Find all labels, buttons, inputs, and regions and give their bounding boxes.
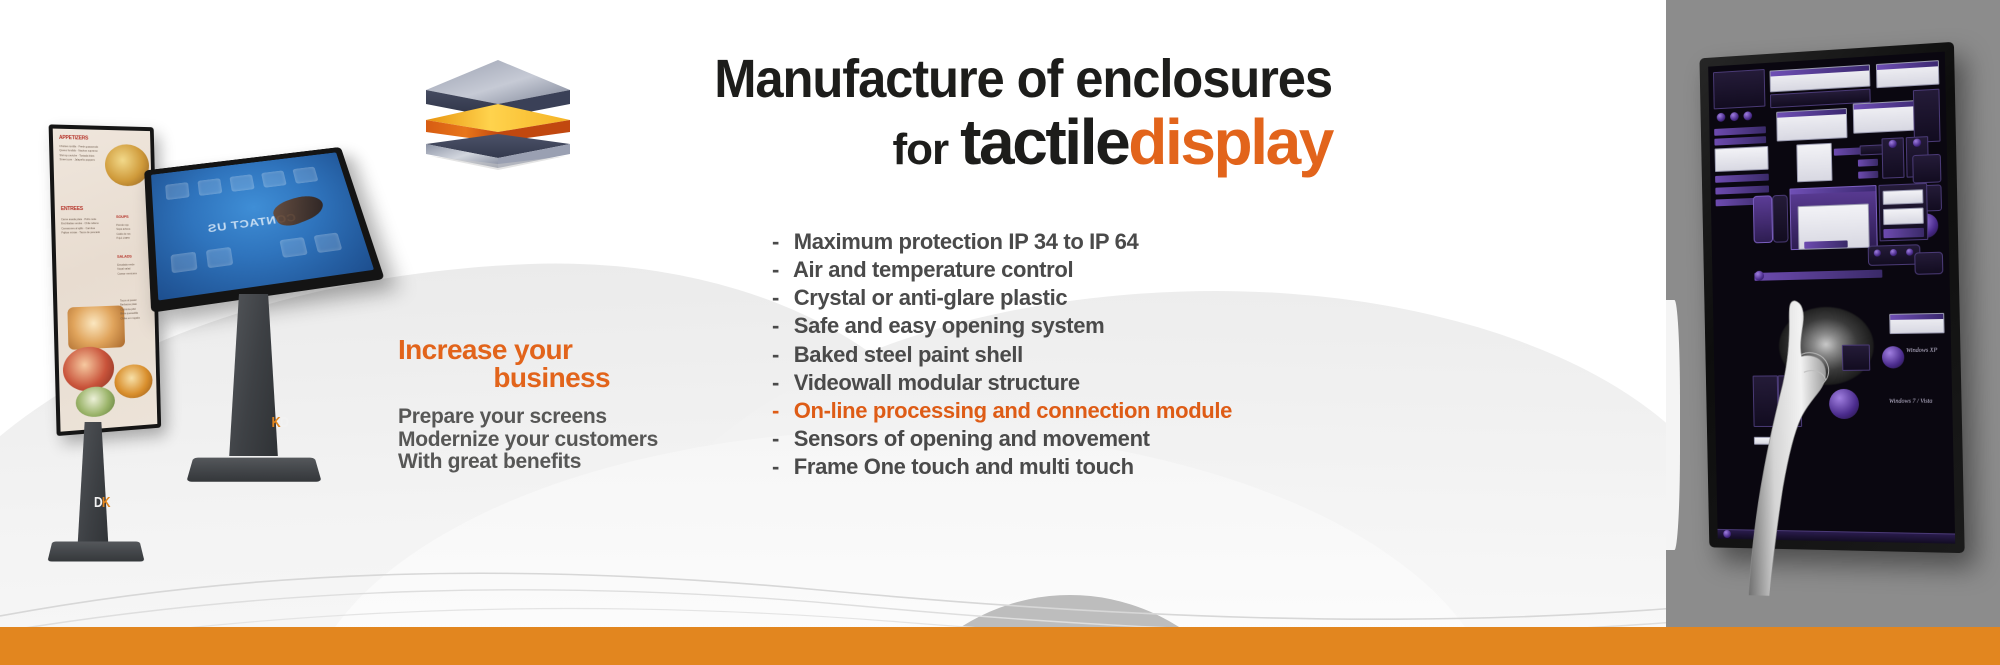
ui-camera-icon [1912,154,1941,184]
ui-window-buttons [1713,69,1765,109]
headline-for: for [892,125,948,174]
feature-label: Frame One touch and multi touch [794,454,1134,479]
feature-label: Videowall modular structure [794,370,1080,395]
feature-dash: - [772,397,788,425]
headline-line-1: Manufacture of enclosures [655,52,1332,106]
ui-start-menu-left [1753,375,1779,427]
landscape-kiosk-base [186,458,321,482]
window-titlebar [1790,186,1875,194]
ui-button[interactable] [1860,144,1884,155]
feature-item: - Maximum protection IP 34 to IP 64 [772,228,1232,256]
page-title: Manufacture of enclosures fortactiledisp… [612,52,1332,174]
ui-popup-menu [1796,143,1832,182]
screen-tile[interactable] [279,237,307,258]
feature-dash: - [772,341,788,369]
start-orb[interactable] [1717,113,1726,122]
ui-start-menu-right [1778,375,1802,427]
food-photo [75,385,115,418]
screen-tile[interactable] [165,182,189,200]
monitor-screen: Windows XP Windows 7 / Vista [1708,52,1955,544]
screen-tile[interactable] [229,174,254,192]
start-orb[interactable] [1730,112,1739,121]
headline-tactile: tactile [960,106,1128,178]
feature-label: On-line processing and connection module [794,398,1232,423]
feature-item: - Frame One touch and multi touch [772,453,1232,481]
feature-dash: - [772,228,788,256]
feature-label: Baked steel paint shell [794,342,1023,367]
landscape-kiosk-screen: CONTACT US [144,147,384,313]
promo-text-block: Increase your business Prepare your scre… [398,336,698,474]
feature-dash: - [772,312,788,340]
feature-label: Air and temperature control [793,257,1073,282]
feature-dash: - [772,425,788,453]
feature-label: Maximum protection IP 34 to IP 64 [794,229,1139,254]
screen-tile[interactable] [313,232,342,253]
ui-list-option[interactable] [1715,185,1769,194]
ui-taskbar[interactable] [1718,529,1956,544]
os-label-xp: Windows XP [1906,348,1937,354]
feature-label: Safe and easy opening system [794,313,1105,338]
landscape-kiosk-stand [226,294,280,456]
ui-list-option[interactable] [1715,174,1769,183]
screen-tile[interactable] [171,252,198,274]
menu-heading: SOUPS [116,214,129,219]
promo-heading: Increase your business [398,336,698,392]
headline-display: display [1128,106,1332,178]
feature-dash: - [772,453,788,481]
ui-small-window [1876,60,1939,88]
landscape-kiosk-screen-content: CONTACT US [151,152,374,300]
ui-special-bar [1883,189,1924,205]
ui-jumplist-item[interactable] [1858,159,1878,167]
landscape-kiosk-brand: KD [271,414,288,431]
screen-tile[interactable] [261,170,287,187]
menu-heading: APPETIZERS [59,135,88,142]
promo-body-line: Modernize your customers [398,429,698,452]
promo-heading-line-2: business [398,364,610,392]
portrait-kiosk-menu-content: APPETIZERS Chicken tortilla · Fresh guac… [53,129,158,432]
ui-panel-dark [1772,195,1789,243]
menu-lines: Ensalada verdeNopal saladCaesar mexicana [117,263,150,277]
ui-scrollbar[interactable] [1883,228,1924,238]
wallpaper-orb [1882,346,1905,368]
feature-item: - Crystal or anti-glare plastic [772,284,1232,312]
os-label-win7: Windows 7 / Vista [1889,399,1933,405]
feature-label: Sensors of opening and movement [794,426,1150,451]
screen-tile[interactable] [206,247,233,268]
bottom-accent-bar [0,627,2000,665]
right-image-panel: Windows XP Windows 7 / Vista [1666,0,2000,665]
feature-item: - Videowall modular structure [772,369,1232,397]
features-list: - Maximum protection IP 34 to IP 64- Air… [772,228,1232,481]
ui-side-panel [1913,89,1941,143]
feature-item: - On-line processing and connection modu… [772,397,1232,425]
feature-dash: - [772,284,788,312]
screen-tile[interactable] [197,178,222,196]
portrait-touchscreen-monitor: Windows XP Windows 7 / Vista [1699,42,1964,553]
promo-heading-line-1: Increase your [398,334,572,365]
promo-body: Prepare your screens Modernize your cust… [398,406,698,474]
ui-widget [1914,252,1943,275]
window-titlebar [1890,314,1943,320]
promo-banner: Manufacture of enclosures fortactiledisp… [0,0,2000,665]
wallpaper-orb [1829,389,1859,419]
feature-item: - Safe and easy opening system [772,312,1232,340]
stacked-plates-logo [418,42,578,172]
start-orb[interactable] [1743,111,1752,120]
headline-line-2: fortactiledisplay [612,110,1332,174]
portrait-kiosk-brand: DDKK [94,494,110,511]
ui-search-field[interactable] [1754,437,1779,445]
ui-tool-window [1715,146,1769,172]
landscape-touch-kiosk: CONTACT US KD [148,138,378,468]
ui-jumplist-item[interactable] [1858,171,1878,179]
ui-desktop-bar[interactable] [1754,270,1882,281]
ui-bar[interactable] [1714,126,1766,136]
window-titlebar [1777,109,1846,118]
menu-lines: Chicken tortilla · Fresh guacamoleQueso … [59,145,103,164]
promo-body-line: With great benefits [398,451,698,474]
food-photo [67,305,125,350]
ui-browser-window [1770,64,1871,92]
ui-progress-bar [1804,240,1848,248]
feature-dash: - [772,256,788,284]
feature-label: Crystal or anti-glare plastic [794,285,1068,310]
ui-panel-purple [1753,195,1773,243]
menu-heading: SALADS [117,254,132,259]
menu-lines: Carne asada plate · Pollo moleEnchiladas… [61,218,113,236]
food-photo [62,346,114,393]
menu-lines: Pozole rojoSopa aztecaCaldo de resFrijol… [116,224,149,242]
feature-item: - Air and temperature control [772,256,1232,284]
screen-tile[interactable] [292,167,318,184]
start-button[interactable] [1723,530,1731,538]
ui-scrollbars [1883,207,1924,225]
ui-pop-pad-window [1776,108,1847,142]
window-titlebar [1854,101,1923,110]
panel-white-wedge [1666,300,1680,550]
ui-context-menu [1842,344,1870,370]
feature-item: - Baked steel paint shell [772,341,1232,369]
food-photo [105,144,150,186]
feature-item: - Sensors of opening and movement [772,425,1232,453]
window-titlebar [1877,61,1938,70]
ui-notification-window [1889,313,1944,334]
feature-dash: - [772,369,788,397]
promo-body-line: Prepare your screens [398,406,698,429]
window-titlebar [1770,65,1869,76]
ui-bar[interactable] [1714,136,1766,145]
menu-heading: ENTREES [61,206,83,212]
portrait-kiosk-base [47,542,144,562]
